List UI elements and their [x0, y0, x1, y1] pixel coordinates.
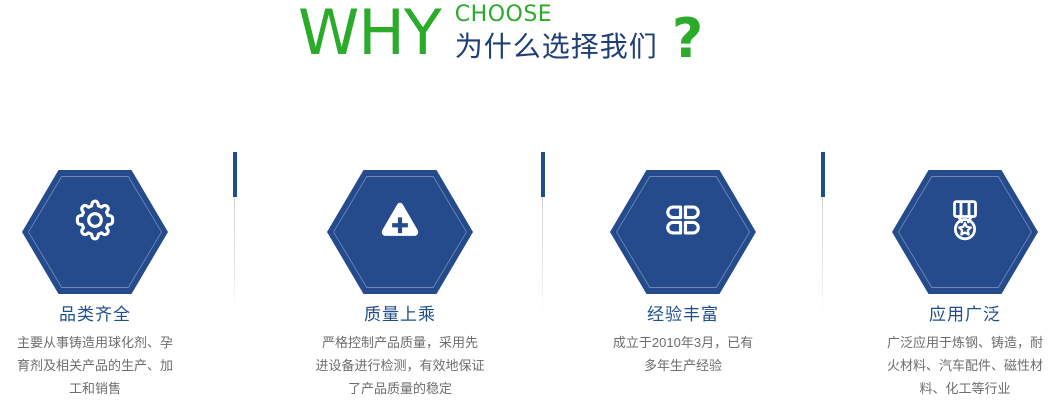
heading-inner: WHY CHOOSE 为什么选择我们 ?: [298, 0, 703, 66]
gear-icon: [67, 192, 123, 248]
medal-icon: [937, 192, 993, 248]
card-desc-line: 多年生产经验: [592, 354, 774, 377]
card-desc-line: 工和销售: [4, 377, 186, 400]
card-desc-line: 主要从事铸造用球化剂、孕: [4, 331, 186, 354]
feature-card-1[interactable]: 品类齐全 主要从事铸造用球化剂、孕 育剂及相关产品的生产、加 工和销售: [0, 150, 190, 400]
heading-chinese-subtitle: 为什么选择我们: [455, 30, 658, 64]
feature-cards: 品类齐全 主要从事铸造用球化剂、孕 育剂及相关产品的生产、加 工和销售 质量上乘…: [0, 150, 1055, 416]
section-heading: WHY CHOOSE 为什么选择我们 ?: [0, 0, 1055, 96]
card-desc-line: 了产品质量的稳定: [309, 377, 491, 400]
feature-card-4[interactable]: 应用广泛 广泛应用于炼钢、铸造，耐 火材料、汽车配件、磁性材 料、化工等行业: [870, 150, 1055, 400]
heading-why-word: WHY: [298, 2, 441, 64]
card-title: 经验丰富: [588, 304, 778, 326]
hexagon-badge-4: [870, 150, 1055, 290]
card-description: 严格控制产品质量，采用先 进设备进行检测，有效地保证 了产品质量的稳定: [305, 331, 495, 400]
card-desc-line: 料、化工等行业: [874, 377, 1055, 400]
clover-icon: [655, 192, 711, 248]
card-desc-line: 成立于2010年3月，已有: [592, 331, 774, 354]
triangle-plus-icon: [372, 192, 428, 248]
hexagon-badge-3: [588, 150, 778, 290]
heading-text-stack: CHOOSE 为什么选择我们: [455, 2, 658, 64]
card-title: 质量上乘: [305, 304, 495, 326]
card-title: 品类齐全: [0, 304, 190, 326]
card-desc-line: 火材料、汽车配件、磁性材: [874, 354, 1055, 377]
feature-card-2[interactable]: 质量上乘 严格控制产品质量，采用先 进设备进行检测，有效地保证 了产品质量的稳定: [305, 150, 495, 400]
card-desc-line: 进设备进行检测，有效地保证: [309, 354, 491, 377]
feature-card-3[interactable]: 经验丰富 成立于2010年3月，已有 多年生产经验: [588, 150, 778, 377]
card-description: 广泛应用于炼钢、铸造，耐 火材料、汽车配件、磁性材 料、化工等行业: [870, 331, 1055, 400]
heading-choose-word: CHOOSE: [455, 2, 658, 28]
card-desc-line: 严格控制产品质量，采用先: [309, 331, 491, 354]
card-desc-line: 广泛应用于炼钢、铸造，耐: [874, 331, 1055, 354]
hexagon-badge-2: [305, 150, 495, 290]
card-description: 成立于2010年3月，已有 多年生产经验: [588, 331, 778, 377]
heading-question-mark: ?: [672, 12, 703, 66]
hexagon-badge-1: [0, 150, 190, 290]
card-title: 应用广泛: [870, 304, 1055, 326]
card-description: 主要从事铸造用球化剂、孕 育剂及相关产品的生产、加 工和销售: [0, 331, 190, 400]
card-desc-line: 育剂及相关产品的生产、加: [4, 354, 186, 377]
